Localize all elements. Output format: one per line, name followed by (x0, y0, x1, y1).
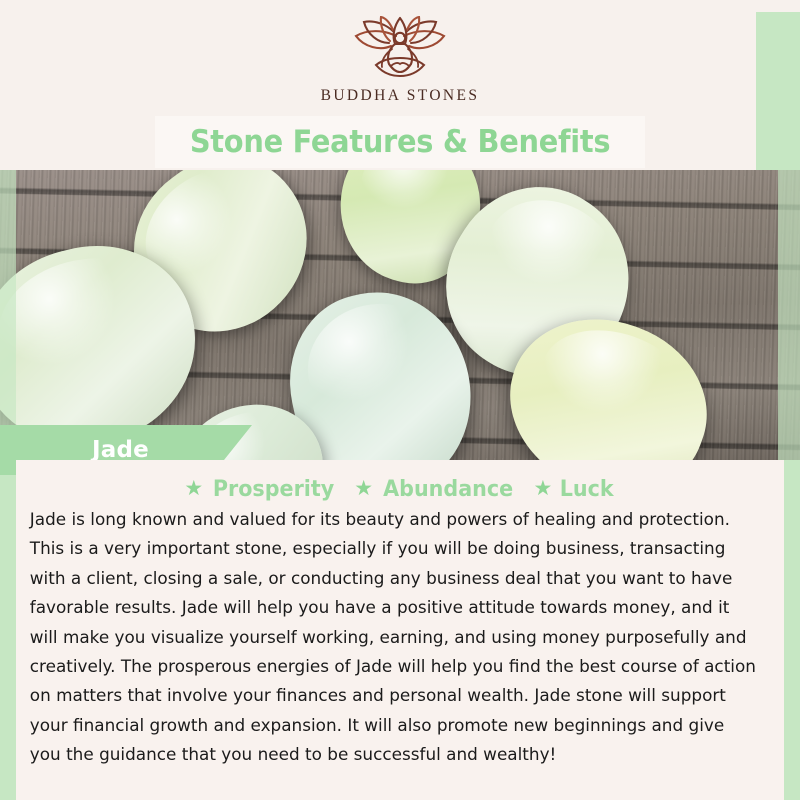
benefit-label: Abundance (383, 477, 513, 502)
description-text: Jade is long known and valued for its be… (16, 504, 772, 771)
decorative-green-left-edge (0, 170, 16, 460)
benefit-label: Luck (560, 477, 614, 502)
benefits-row: ★ Prosperity ★ Abundance ★ Luck (16, 460, 784, 504)
page-title: Stone Features & Benefits (190, 124, 610, 160)
benefit-label: Prosperity (213, 477, 334, 502)
star-icon: ★ (184, 478, 203, 499)
benefit-item: ★ Abundance (354, 477, 517, 502)
stone-photo (0, 170, 800, 460)
benefit-item: ★ Luck (533, 477, 615, 502)
star-icon: ★ (533, 478, 552, 499)
star-icon: ★ (354, 478, 373, 499)
brand-wordmark: BUDDHA STONES (321, 87, 480, 105)
title-banner: Stone Features & Benefits (155, 116, 645, 168)
benefit-item: ★ Prosperity (184, 477, 338, 502)
poster-root: BUDDHA STONES Stone Features & Benefits … (0, 0, 800, 800)
lotus-meditating-figure-icon (342, 16, 458, 84)
content-panel: ★ Prosperity ★ Abundance ★ Luck Jade is … (16, 460, 784, 742)
decorative-green-right-edge (778, 170, 800, 460)
brand-logo: BUDDHA STONES (0, 16, 800, 116)
